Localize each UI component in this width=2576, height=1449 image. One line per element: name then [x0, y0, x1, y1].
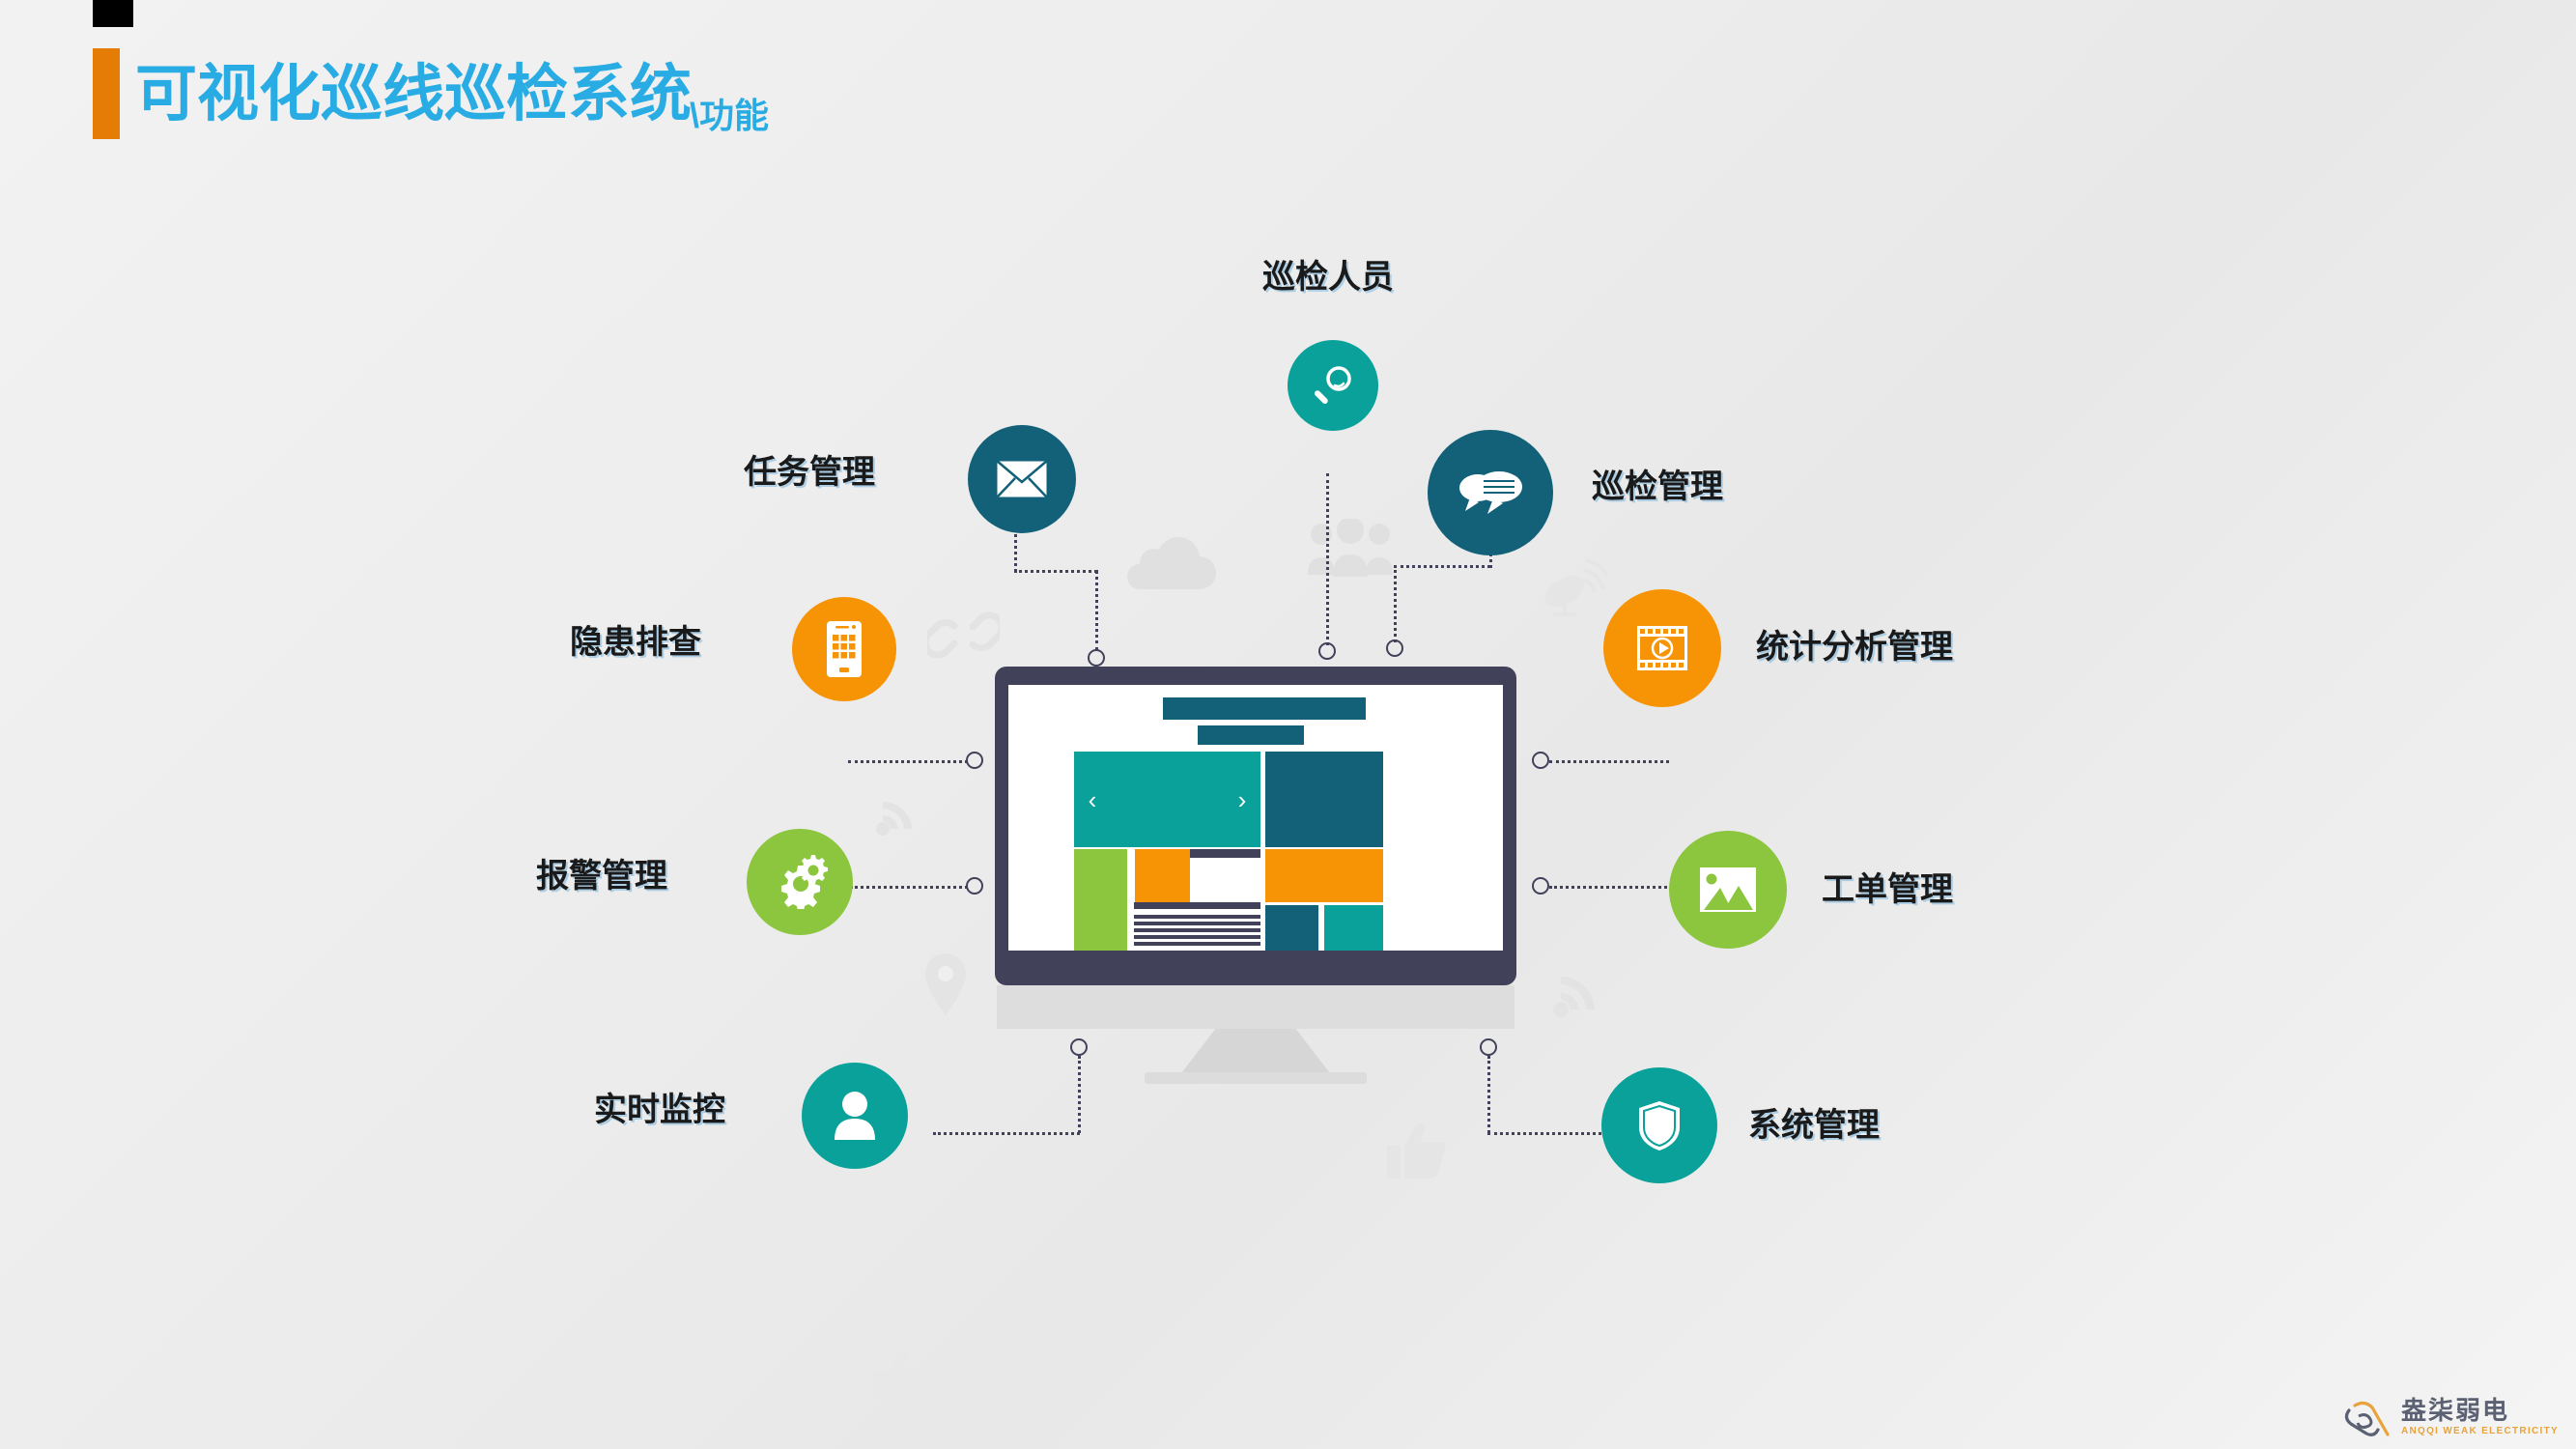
image-icon [1699, 867, 1757, 913]
header-black-square [93, 0, 133, 27]
thumbs-up-icon [869, 1348, 929, 1402]
page-header: 可视化巡线巡检系统 \功能 [0, 0, 2576, 184]
connector-dot-alarm [966, 877, 983, 895]
satellite-dish-icon [1540, 551, 1607, 618]
connector-line [1549, 886, 1667, 889]
monitor-screen: ‹ › [1008, 685, 1503, 951]
watermark-en: ANQQI WEAK ELECTRICITY [2401, 1427, 2559, 1436]
screen-panel-teal-square [1324, 905, 1383, 951]
node-work-order-label: 工单管理 [1822, 873, 1953, 906]
screen-subtitle-bar [1198, 725, 1304, 745]
carousel-prev-arrow[interactable]: ‹ [1084, 787, 1101, 812]
mobile-icon [826, 620, 863, 678]
connector-line [1326, 473, 1329, 645]
connector-line [1394, 565, 1490, 568]
connector-line [1549, 760, 1669, 763]
person-icon [832, 1090, 878, 1142]
screen-divider-bar [1134, 902, 1260, 909]
screen-panel-dark-square [1265, 905, 1318, 951]
shield-icon [1637, 1099, 1682, 1151]
header-accent-bar [93, 48, 120, 139]
node-system-management-label: 系统管理 [1748, 1109, 1880, 1142]
screen-panel-orange-wide [1265, 849, 1383, 902]
watermark: 盎柒弱电 ANQQI WEAK ELECTRICITY [2341, 1397, 2559, 1437]
connector-line [1394, 565, 1397, 642]
monitor-stand [1178, 1029, 1333, 1077]
node-system-management[interactable]: 系统管理 [1601, 1067, 2026, 1183]
watermark-text: 盎柒弱电 ANQQI WEAK ELECTRICITY [2401, 1398, 2559, 1436]
screen-panel-orange-small [1135, 849, 1190, 904]
screen-divider-bar [1190, 849, 1260, 858]
thumbs-up-icon [1381, 1121, 1449, 1180]
node-work-order-circle[interactable] [1669, 831, 1787, 949]
monitor-base [1145, 1072, 1367, 1084]
page-title-main: 可视化巡线巡检系统 [135, 63, 692, 125]
node-task-management[interactable]: 任务管理 [744, 425, 1091, 531]
node-patrol-management[interactable]: 巡检管理 [1428, 430, 1814, 541]
cloud-icon [1116, 536, 1222, 594]
node-alarm-management[interactable]: 报警管理 [536, 829, 942, 935]
node-alarm-management-label: 报警管理 [536, 860, 942, 893]
people-group-icon [1306, 519, 1395, 577]
node-system-management-circle[interactable] [1601, 1067, 1717, 1183]
node-inspector-circle[interactable] [1288, 340, 1378, 431]
node-hazard-screening-label: 隐患排查 [570, 626, 956, 659]
screen-panel-green [1074, 849, 1127, 951]
node-work-order[interactable]: 工单管理 [1669, 831, 2094, 947]
gears-icon [770, 855, 830, 909]
node-statistics-label: 统计分析管理 [1756, 631, 1953, 664]
screen-title-bar [1163, 697, 1366, 720]
node-inspector[interactable]: 巡检人员 [1203, 261, 1454, 473]
monitor-neck [997, 985, 1514, 1029]
screen-text-lines [1134, 915, 1260, 951]
connector-line [848, 760, 968, 763]
node-task-management-circle[interactable] [968, 425, 1076, 533]
connector-dot-workorder [1532, 877, 1549, 895]
page-title: 可视化巡线巡检系统 \功能 [135, 48, 769, 139]
carousel-next-arrow[interactable]: › [1233, 787, 1251, 812]
chat-bubbles-icon [1457, 468, 1524, 518]
watermark-cn: 盎柒弱电 [2401, 1398, 2559, 1423]
node-statistics-circle[interactable] [1603, 589, 1721, 707]
node-patrol-management-label: 巡检管理 [1592, 470, 1723, 503]
connector-line [1014, 570, 1097, 573]
wifi-signal-icon [1545, 956, 1623, 1022]
anqqi-logo-icon [2341, 1397, 2392, 1437]
connector-line [1095, 570, 1098, 651]
connector-dot-hazard [966, 752, 983, 769]
desktop-monitor: ‹ › [995, 667, 1516, 1072]
node-hazard-screening[interactable]: 隐患排查 [570, 597, 956, 703]
video-film-icon [1635, 624, 1689, 672]
node-statistics[interactable]: 统计分析管理 [1603, 589, 2067, 705]
node-realtime-monitor-circle[interactable] [802, 1063, 908, 1169]
node-hazard-screening-circle[interactable] [792, 597, 896, 701]
node-realtime-monitor-label: 实时监控 [594, 1094, 1000, 1126]
location-pin-icon [922, 952, 969, 1017]
node-realtime-monitor[interactable]: 实时监控 [594, 1063, 1000, 1169]
node-alarm-management-circle[interactable] [747, 829, 853, 935]
monitor-frame: ‹ › [995, 667, 1516, 985]
node-inspector-label: 巡检人员 [1203, 261, 1454, 294]
envelope-icon [995, 459, 1049, 499]
connector-dot-statistics [1532, 752, 1549, 769]
node-patrol-management-circle[interactable] [1428, 430, 1553, 555]
page-title-sub: \功能 [690, 99, 769, 139]
magnifier-icon [1310, 362, 1356, 409]
screen-panel-dark [1265, 752, 1383, 847]
connector-dot-task [1088, 649, 1105, 667]
